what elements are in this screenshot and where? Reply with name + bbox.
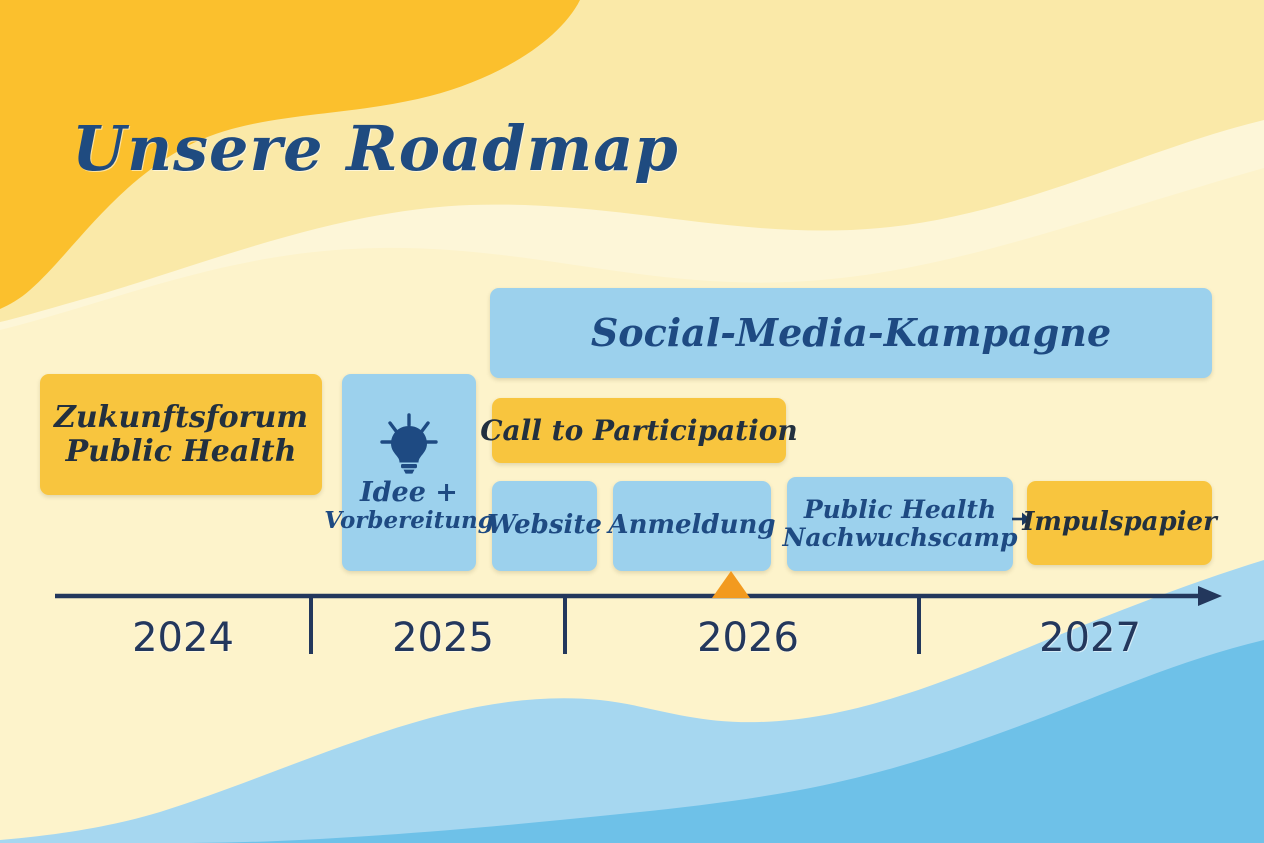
milestone-card-anmeldung[interactable]: Anmeldung — [613, 481, 771, 571]
card-line: Social-Media-Kampagne — [591, 312, 1111, 355]
page-title: Unsere Roadmap — [72, 112, 679, 185]
timeline-year-2024: 2024 — [93, 615, 273, 661]
card-line: Public Health — [66, 435, 297, 469]
card-line: Vorbereitung — [324, 508, 494, 534]
card-line: Anmeldung — [608, 511, 775, 540]
timeline-year-2027: 2027 — [1000, 615, 1180, 661]
card-line: Idee + — [360, 478, 458, 508]
card-line: Zukunftsforum — [54, 401, 308, 435]
milestone-card-public-health-nachwuchscamp[interactable]: Public Health Nachwuchscamp — [787, 477, 1013, 571]
milestone-card-call-to-participation[interactable]: Call to Participation — [492, 398, 786, 463]
milestone-card-impulspapier[interactable]: Impulspapier — [1027, 481, 1212, 565]
triangle-marker-icon — [712, 571, 750, 598]
lightbulb-icon — [376, 412, 442, 474]
timeline-year-2025: 2025 — [353, 615, 533, 661]
roadmap-infographic: Unsere Roadmap Zukunftsforum Public Heal… — [0, 0, 1264, 843]
milestone-card-zukunftsforum[interactable]: Zukunftsforum Public Health — [40, 374, 322, 495]
card-line: Website — [487, 511, 602, 540]
card-line: Call to Participation — [480, 415, 798, 446]
card-line: Impulspapier — [1022, 508, 1217, 537]
milestone-card-idee-vorbereitung[interactable]: Idee + Vorbereitung — [342, 374, 476, 571]
milestone-card-website[interactable]: Website — [492, 481, 597, 571]
timeline-arrowhead — [1198, 586, 1222, 606]
card-line: Nachwuchscamp — [783, 524, 1018, 552]
milestone-card-social-media-kampagne[interactable]: Social-Media-Kampagne — [490, 288, 1212, 378]
timeline-year-2026: 2026 — [658, 615, 838, 661]
card-line: Public Health — [804, 496, 996, 524]
